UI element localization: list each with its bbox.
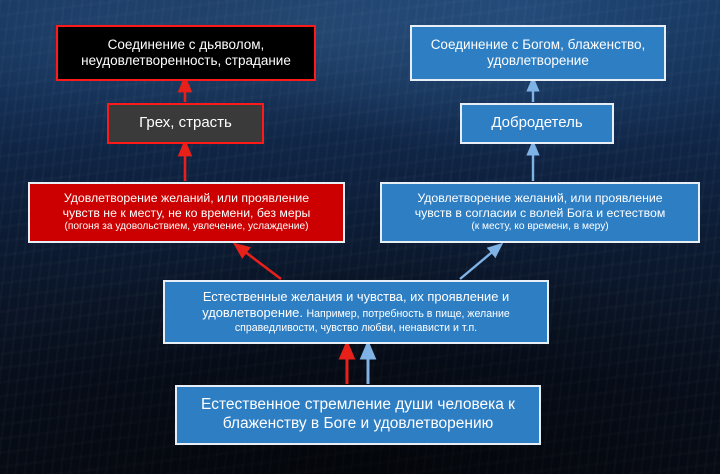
arrow-natural-to-virtue-desc (460, 248, 497, 279)
node-soul-aspiration-line1: Естественное стремление души человека к (201, 396, 515, 415)
node-soul-aspiration[interactable]: Естественное стремление души человека к … (175, 385, 541, 445)
node-natural-desires-line2: удовлетворение. Например, потребность в … (202, 305, 510, 321)
node-natural-desires-line2-example: Например, потребность в пище, желание (306, 308, 509, 320)
node-soul-aspiration-line2: блаженству в Боге и удовлетворению (223, 415, 494, 434)
node-virtue-label: Добродетель (491, 114, 582, 132)
node-sin-passion-label: Грех, страсть (139, 114, 232, 132)
node-disordered-satisfaction-line2: чувств не к месту, не ко времени, без ме… (63, 206, 311, 221)
node-natural-desires[interactable]: Естественные желания и чувства, их прояв… (163, 280, 549, 344)
node-ordered-satisfaction-line1: Удовлетворение желаний, или проявление (417, 191, 662, 206)
node-ordered-satisfaction-line2: чувств в согласии с волей Бога и естеств… (415, 206, 666, 221)
node-union-with-devil-line2: неудовлетворенность, страдание (81, 53, 291, 69)
node-disordered-satisfaction-line3: (погоня за удовольствием, увлечение, усл… (64, 221, 308, 233)
node-ordered-satisfaction-line3: (к месту, ко времени, в меру) (471, 221, 608, 233)
node-ordered-satisfaction[interactable]: Удовлетворение желаний, или проявление ч… (380, 182, 700, 243)
node-union-with-god-line1: Соединение с Богом, блаженство, (431, 37, 646, 53)
node-union-with-devil-line1: Соединение с дьяволом, (108, 37, 265, 53)
node-natural-desires-line1: Естественные желания и чувства, их прояв… (203, 289, 509, 305)
node-sin-passion[interactable]: Грех, страсть (107, 103, 264, 144)
diagram-canvas: Соединение с дьяволом, неудовлетвореннос… (0, 0, 720, 474)
node-virtue[interactable]: Добродетель (460, 103, 614, 144)
node-union-with-god-line2: удовлетворение (487, 53, 589, 69)
arrow-natural-to-sin-desc (240, 248, 281, 279)
node-natural-desires-line2-main: удовлетворение. (202, 305, 303, 320)
node-disordered-satisfaction[interactable]: Удовлетворение желаний, или проявление ч… (28, 182, 345, 243)
node-union-with-devil[interactable]: Соединение с дьяволом, неудовлетвореннос… (56, 25, 316, 81)
node-natural-desires-line3: справедливости, чувство любви, ненависти… (235, 322, 477, 335)
node-union-with-god[interactable]: Соединение с Богом, блаженство, удовлетв… (410, 25, 666, 81)
node-disordered-satisfaction-line1: Удовлетворение желаний, или проявление (64, 191, 309, 206)
